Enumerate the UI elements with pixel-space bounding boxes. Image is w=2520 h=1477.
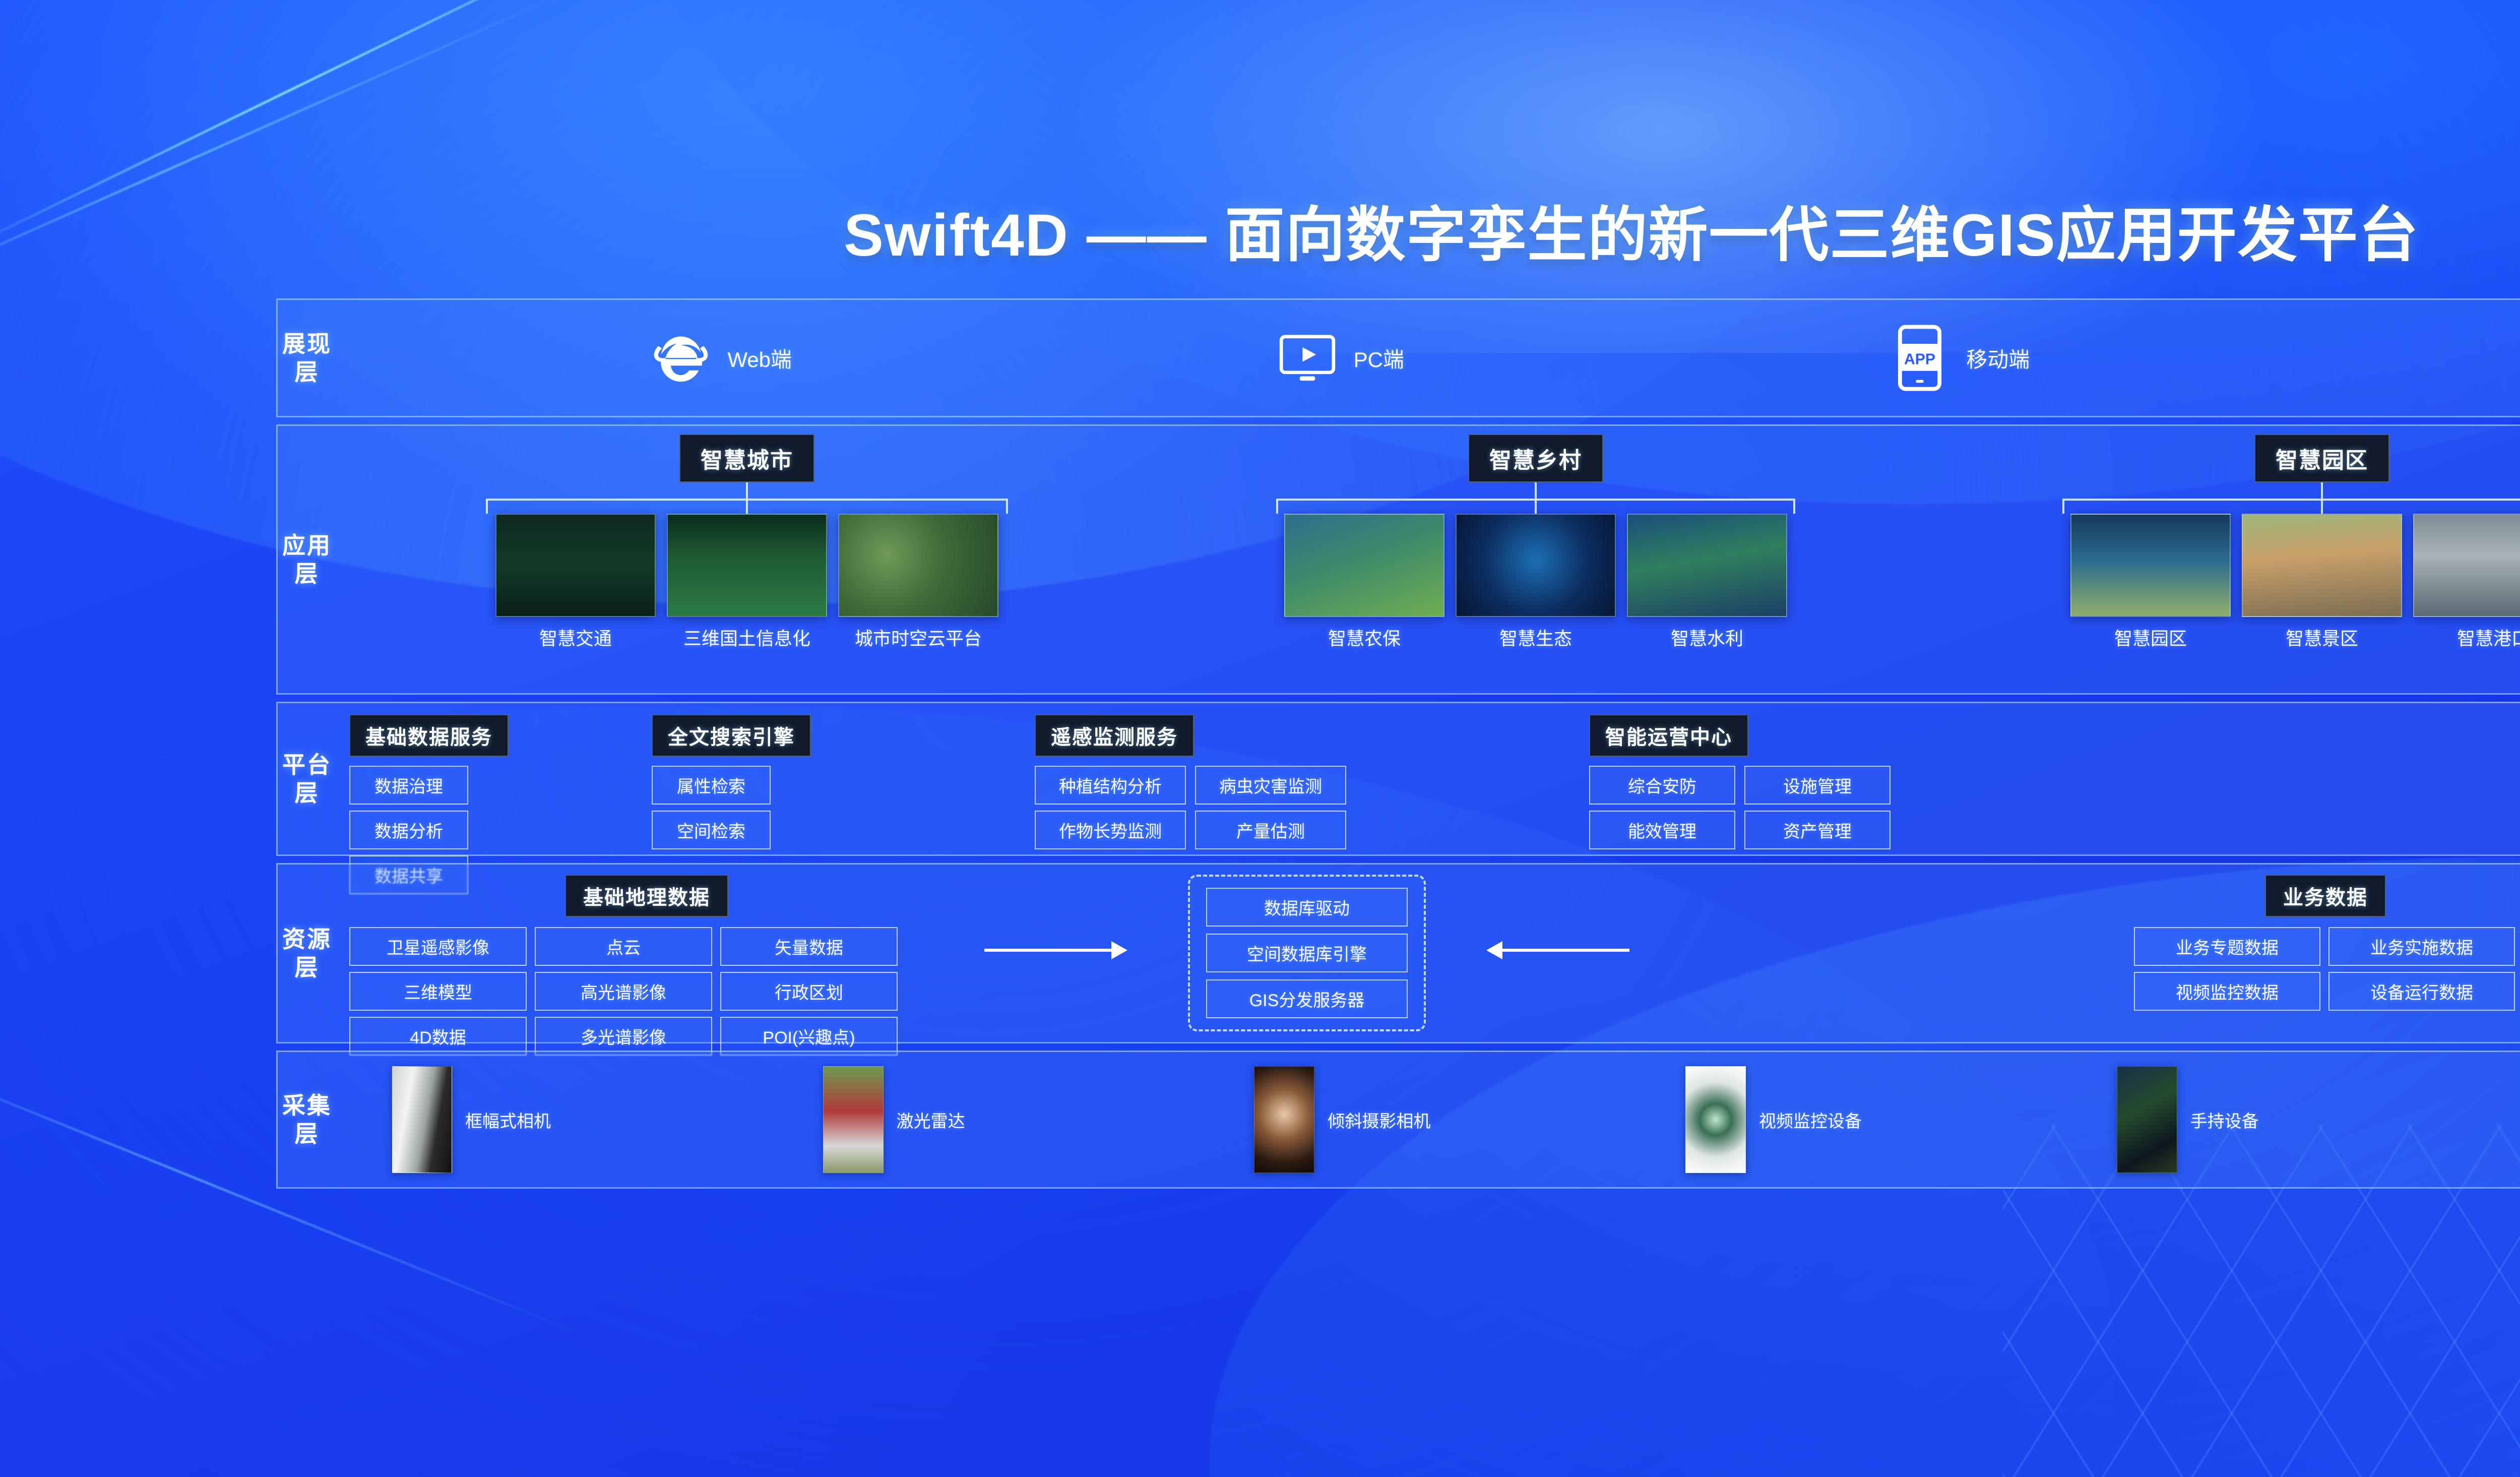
resource-chip-satellite-imagery[interactable]: 卫星遥感影像 xyxy=(349,927,527,966)
platform-chip-attribute-search[interactable]: 属性检索 xyxy=(652,766,771,805)
app-card-3d-land[interactable]: 三维国土信息化 xyxy=(667,514,827,650)
platform-head-fulltext-search-engine: 全文搜索引擎 xyxy=(652,714,811,757)
connector-smart-city xyxy=(351,482,1143,514)
app-card-smart-traffic[interactable]: 智慧交通 xyxy=(495,514,656,650)
collection-caption-handheld: 手持设备 xyxy=(2190,1107,2259,1132)
internet-explorer-icon xyxy=(651,328,711,388)
layer-label-platform-text: 平台层 xyxy=(278,751,336,807)
resource-chip-poi[interactable]: POI(兴趣点) xyxy=(720,1017,898,1056)
platform-column-remote-sensing-service: 遥感监测服务 种植结构分析 病虫灾害监测 作物长势监测 产量估测 xyxy=(1035,714,1589,842)
thumbnail-smart-agri xyxy=(1284,514,1444,617)
presentation-item-web[interactable]: Web端 xyxy=(412,328,1031,388)
app-caption-smart-eco: 智慧生态 xyxy=(1499,624,1572,650)
resource-chip-point-cloud[interactable]: 点云 xyxy=(535,927,712,966)
platform-chip-integrated-security[interactable]: 综合安防 xyxy=(1589,766,1735,805)
resource-chip-video-surveillance-data[interactable]: 视频监控数据 xyxy=(2134,972,2320,1011)
resource-chip-administrative-division[interactable]: 行政区划 xyxy=(720,972,898,1011)
resource-chip-multispectral-imagery[interactable]: 多光谱影像 xyxy=(535,1017,712,1056)
app-caption-smart-water: 智慧水利 xyxy=(1671,624,1743,650)
resource-chip-gis-distribution-server[interactable]: GIS分发服务器 xyxy=(1206,979,1408,1018)
svg-text:APP: APP xyxy=(1904,351,1935,367)
thumbnail-smart-park xyxy=(2070,514,2231,617)
platform-head-remote-sensing-service: 遥感监测服务 xyxy=(1035,714,1194,757)
platform-head-base-data-service: 基础数据服务 xyxy=(349,714,509,757)
application-thumbs-smart-city: 智慧交通 三维国土信息化 城市时空云平台 xyxy=(495,514,998,650)
connector-smart-rural xyxy=(1143,482,1929,514)
app-card-smart-water[interactable]: 智慧水利 xyxy=(1627,514,1787,650)
layer-label-collection-text: 采集层 xyxy=(278,1091,336,1148)
app-card-smart-agri[interactable]: 智慧农保 xyxy=(1284,514,1444,650)
platform-chip-facility-management[interactable]: 设施管理 xyxy=(1744,766,1891,805)
device-image-oblique-camera xyxy=(1254,1066,1314,1173)
presentation-item-pc[interactable]: PC端 xyxy=(1031,328,1651,388)
layer-label-presentation: 展现层 xyxy=(278,300,336,416)
layer-resource: 资源层 基础地理数据 卫星遥感影像 点云 矢量数据 三维模型 高光谱影像 行政区… xyxy=(276,863,2520,1043)
application-thumbs-smart-park: 智慧园区 智慧景区 智慧港口 xyxy=(2070,514,2520,650)
device-image-frame-camera xyxy=(392,1066,452,1173)
monitor-play-icon xyxy=(1277,328,1338,388)
layer-presentation-body: Web端 PC端 xyxy=(336,300,2520,416)
resource-chip-business-implementation-data[interactable]: 业务实施数据 xyxy=(2328,927,2515,966)
presentation-label-web: Web端 xyxy=(727,343,792,374)
thumbnail-smart-eco xyxy=(1456,514,1616,617)
layer-label-resource-text: 资源层 xyxy=(278,925,336,981)
application-group-title-smart-rural: 智慧乡村 xyxy=(1468,434,1603,482)
app-card-city-cloud[interactable]: 城市时空云平台 xyxy=(838,514,998,650)
application-group-title-smart-park: 智慧园区 xyxy=(2254,434,2389,482)
app-caption-smart-port: 智慧港口 xyxy=(2457,624,2520,650)
thumbnail-smart-port xyxy=(2413,514,2520,617)
mobile-app-icon: APP xyxy=(1889,328,1950,388)
resource-block-database-core: 数据库驱动 空间数据库引擎 GIS分发服务器 xyxy=(1166,875,1448,1031)
collection-item-lidar[interactable]: 激光雷达 xyxy=(823,1066,1254,1173)
resource-block-geo-data: 基础地理数据 卫星遥感影像 点云 矢量数据 三维模型 高光谱影像 行政区划 4D… xyxy=(349,875,944,1056)
device-image-lidar xyxy=(823,1066,884,1173)
platform-column-fulltext-search-engine: 全文搜索引擎 属性检索 空间检索 xyxy=(652,714,1035,842)
device-image-handheld xyxy=(2117,1066,2177,1173)
thumbnail-city-cloud xyxy=(838,514,998,617)
collection-caption-cctv: 视频监控设备 xyxy=(1759,1107,1862,1132)
collection-caption-oblique-camera: 倾斜摄影相机 xyxy=(1328,1107,1430,1132)
resource-chip-database-driver[interactable]: 数据库驱动 xyxy=(1206,888,1408,927)
app-card-smart-scenic[interactable]: 智慧景区 xyxy=(2242,514,2402,650)
platform-chip-spatial-search[interactable]: 空间检索 xyxy=(652,811,771,849)
resource-chip-business-thematic-data[interactable]: 业务专题数据 xyxy=(2134,927,2320,966)
layer-label-presentation-text: 展现层 xyxy=(278,330,336,386)
application-group-smart-park: 智慧园区 智慧园区 xyxy=(1929,434,2520,684)
resource-chip-4d-data[interactable]: 4D数据 xyxy=(349,1017,527,1056)
resource-head-geo-data: 基础地理数据 xyxy=(565,875,728,917)
platform-chip-planting-structure-analysis[interactable]: 种植结构分析 xyxy=(1035,766,1186,805)
app-card-smart-port[interactable]: 智慧港口 xyxy=(2413,514,2520,650)
resource-chip-spatial-database-engine[interactable]: 空间数据库引擎 xyxy=(1206,934,1408,972)
app-caption-smart-traffic: 智慧交通 xyxy=(539,624,612,650)
collection-item-cctv[interactable]: 视频监控设备 xyxy=(1685,1066,2117,1173)
platform-chip-yield-estimation[interactable]: 产量估测 xyxy=(1195,811,1346,849)
arrow-left-icon xyxy=(1448,875,1670,1026)
platform-column-base-data-service: 基础数据服务 数据治理 数据分析 数据共享 xyxy=(349,714,652,842)
layer-label-resource: 资源层 xyxy=(278,865,336,1042)
presentation-label-mobile: 移动端 xyxy=(1966,343,2030,374)
thumbnail-3d-land xyxy=(667,514,827,617)
collection-item-frame-camera[interactable]: 框幅式相机 xyxy=(392,1066,823,1173)
presentation-item-mobile[interactable]: APP 移动端 xyxy=(1650,328,2270,388)
collection-caption-frame-camera: 框幅式相机 xyxy=(465,1107,551,1132)
application-group-title-smart-city: 智慧城市 xyxy=(679,434,814,482)
platform-chip-crop-growth-monitoring[interactable]: 作物长势监测 xyxy=(1035,811,1186,849)
collection-item-oblique-camera[interactable]: 倾斜摄影相机 xyxy=(1254,1066,1685,1173)
resource-chip-equipment-operation-data[interactable]: 设备运行数据 xyxy=(2328,972,2515,1011)
layer-platform-body: 基础数据服务 数据治理 数据分析 数据共享 全文搜索引擎 属性检索 空间检索 xyxy=(336,703,2520,854)
resource-chip-3d-model[interactable]: 三维模型 xyxy=(349,972,527,1011)
resource-head-business-data: 业务数据 xyxy=(2265,875,2386,917)
page-title: Swift4D —— 面向数字孪生的新一代三维GIS应用开发平台 xyxy=(0,187,2520,273)
connector-smart-park xyxy=(1929,482,2520,514)
application-group-smart-city: 智慧城市 智慧交通 xyxy=(351,434,1143,684)
application-thumbs-smart-rural: 智慧农保 智慧生态 智慧水利 xyxy=(1284,514,1787,650)
app-card-smart-eco[interactable]: 智慧生态 xyxy=(1456,514,1616,650)
resource-chip-vector-data[interactable]: 矢量数据 xyxy=(720,927,898,966)
layer-label-collection: 采集层 xyxy=(278,1052,336,1187)
device-image-cctv xyxy=(1685,1066,1746,1173)
layer-resource-body: 基础地理数据 卫星遥感影像 点云 矢量数据 三维模型 高光谱影像 行政区划 4D… xyxy=(336,865,2520,1042)
app-caption-smart-agri: 智慧农保 xyxy=(1328,624,1401,650)
platform-chip-asset-management[interactable]: 资产管理 xyxy=(1744,811,1891,849)
presentation-label-pc: PC端 xyxy=(1354,343,1404,374)
layer-label-application: 应用层 xyxy=(278,426,336,693)
platform-column-intelligent-operation-center: 智能运营中心 综合安防 设施管理 能效管理 资产管理 xyxy=(1589,714,2520,842)
platform-head-intelligent-operation-center: 智能运营中心 xyxy=(1589,714,1748,757)
platform-chip-pest-disaster-monitoring[interactable]: 病虫灾害监测 xyxy=(1195,766,1346,805)
app-caption-smart-park: 智慧园区 xyxy=(2114,624,2187,650)
arrow-right-icon xyxy=(944,875,1166,1026)
collection-caption-lidar: 激光雷达 xyxy=(897,1107,965,1132)
layer-presentation: 展现层 Web端 xyxy=(276,298,2520,417)
thumbnail-smart-traffic xyxy=(495,514,656,617)
thumbnail-smart-water xyxy=(1627,514,1787,617)
application-group-smart-rural: 智慧乡村 智慧农保 xyxy=(1143,434,1929,684)
app-caption-city-cloud: 城市时空云平台 xyxy=(855,624,982,650)
architecture-diagram: 展现层 Web端 xyxy=(276,298,2520,1196)
resource-block-business-data: 业务数据 业务专题数据 业务实施数据 视频监控数据 设备运行数据 xyxy=(1670,875,2520,1011)
platform-chip-data-governance[interactable]: 数据治理 xyxy=(349,766,468,805)
layer-label-platform: 平台层 xyxy=(278,703,336,854)
layer-collection: 采集层 框幅式相机 激光雷达 倾斜摄影相机 视频监控设备 xyxy=(276,1051,2520,1189)
resource-chip-hyperspectral-imagery[interactable]: 高光谱影像 xyxy=(535,972,712,1011)
layer-application-body: 智慧城市 智慧交通 xyxy=(336,426,2520,693)
layer-collection-body: 框幅式相机 激光雷达 倾斜摄影相机 视频监控设备 手持设备 xyxy=(336,1052,2520,1187)
platform-chip-data-analysis[interactable]: 数据分析 xyxy=(349,811,468,849)
presentation-item-bigscreen[interactable]: 大屏 xyxy=(2270,328,2520,388)
platform-chip-energy-efficiency-management[interactable]: 能效管理 xyxy=(1589,811,1735,849)
app-caption-smart-scenic: 智慧景区 xyxy=(2286,624,2358,650)
layer-platform: 平台层 基础数据服务 数据治理 数据分析 数据共享 全文搜索引擎 属性检索 空间… xyxy=(276,702,2520,856)
collection-item-handheld[interactable]: 手持设备 xyxy=(2117,1066,2520,1173)
layer-application: 应用层 智慧城市 智慧交通 xyxy=(276,424,2520,695)
app-caption-3d-land: 三维国土信息化 xyxy=(683,624,810,650)
resource-dashed-container: 数据库驱动 空间数据库引擎 GIS分发服务器 xyxy=(1188,875,1426,1031)
app-card-smart-park[interactable]: 智慧园区 xyxy=(2070,514,2231,650)
thumbnail-smart-scenic xyxy=(2242,514,2402,617)
layer-label-application-text: 应用层 xyxy=(278,531,336,588)
